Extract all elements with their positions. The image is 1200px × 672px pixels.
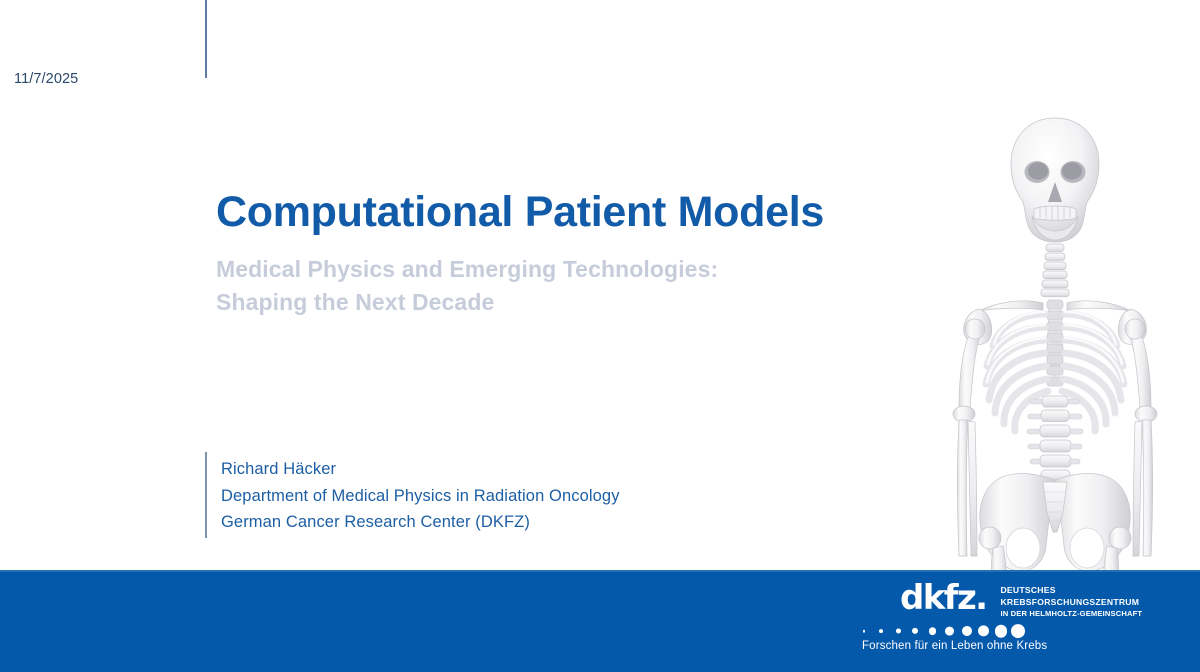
dkfz-tagline: Forschen für ein Leben ohne Krebs bbox=[862, 640, 1047, 652]
dkfz-dot bbox=[945, 627, 954, 636]
author-accent-rule bbox=[205, 452, 207, 538]
dkfz-dot bbox=[879, 629, 883, 633]
forearm-left bbox=[958, 420, 969, 556]
forearm-right bbox=[1142, 420, 1153, 556]
slide-subtitle: Medical Physics and Emerging Technologie… bbox=[216, 253, 956, 318]
clavicle-left bbox=[979, 301, 1043, 311]
dkfz-dot bbox=[1011, 624, 1025, 638]
humerus-left bbox=[959, 330, 981, 410]
dkfz-dot bbox=[896, 628, 901, 633]
skeleton-illustration bbox=[935, 108, 1175, 578]
subtitle-line-1: Medical Physics and Emerging Technologie… bbox=[216, 253, 956, 286]
slide-date: 11/7/2025 bbox=[14, 71, 78, 87]
title-slide: 11/7/2025 Computational Patient Models M… bbox=[0, 0, 1200, 672]
slide-title: Computational Patient Models bbox=[216, 190, 956, 235]
dkfz-dot bbox=[863, 630, 866, 633]
humerus-right bbox=[1129, 330, 1151, 410]
dkfz-wordmark: dkfz. bbox=[900, 581, 986, 615]
dkfz-fullname-line-1: DEUTSCHES bbox=[1000, 585, 1142, 597]
dkfz-fullname-line-3: IN DER HELMHOLTZ-GEMEINSCHAFT bbox=[1000, 609, 1142, 619]
title-block: Computational Patient Models Medical Phy… bbox=[216, 190, 956, 318]
elbow-left bbox=[953, 406, 975, 422]
cervical-spine bbox=[1041, 244, 1069, 297]
femoral-head-right bbox=[1109, 527, 1131, 549]
dkfz-fullname-line-2: KREBSFORSCHUNGSZENTRUM bbox=[1000, 597, 1142, 609]
author-name: Richard Häcker bbox=[221, 456, 841, 483]
skull bbox=[1011, 118, 1099, 242]
dkfz-dot bbox=[912, 628, 918, 634]
dkfz-dot bbox=[929, 627, 937, 635]
dkfz-dot-row bbox=[862, 622, 1038, 640]
dkfz-dot bbox=[978, 625, 989, 636]
clavicle-right bbox=[1067, 301, 1131, 311]
dkfz-fullname: DEUTSCHES KREBSFORSCHUNGSZENTRUM IN DER … bbox=[1000, 585, 1142, 619]
dkfz-dot bbox=[995, 625, 1008, 638]
author-institution: German Cancer Research Center (DKFZ) bbox=[221, 509, 841, 536]
author-department: Department of Medical Physics in Radiati… bbox=[221, 483, 841, 510]
dkfz-logo: dkfz. DEUTSCHES KREBSFORSCHUNGSZENTRUM I… bbox=[862, 578, 1192, 666]
subtitle-line-2: Shaping the Next Decade bbox=[216, 286, 956, 319]
lumbar-spine bbox=[1040, 396, 1071, 481]
dkfz-dot bbox=[962, 626, 972, 636]
elbow-right bbox=[1135, 406, 1157, 422]
author-block: Richard Häcker Department of Medical Phy… bbox=[221, 456, 841, 536]
femoral-head-left bbox=[979, 527, 1001, 549]
top-accent-rule bbox=[205, 0, 207, 78]
dkfz-logo-top-row: dkfz. DEUTSCHES KREBSFORSCHUNGSZENTRUM I… bbox=[900, 581, 1142, 619]
footer-hairline bbox=[0, 570, 1200, 572]
